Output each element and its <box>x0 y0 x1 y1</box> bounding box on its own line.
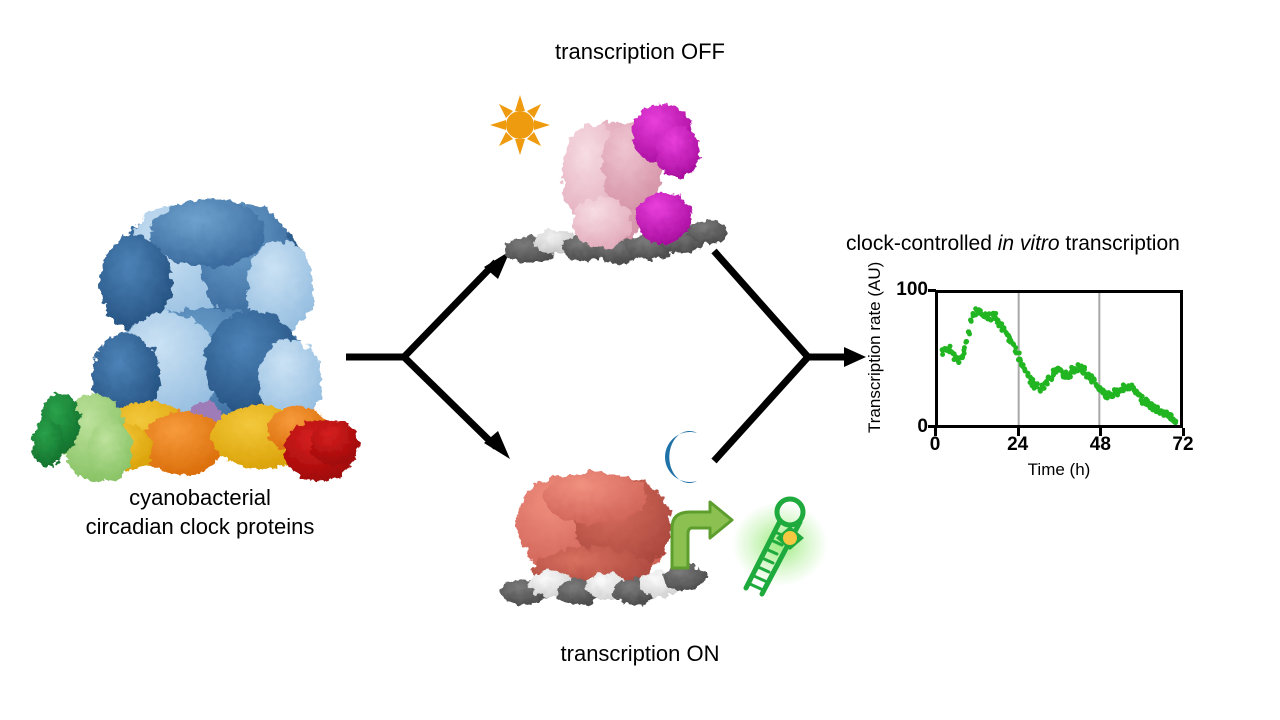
data-point <box>1006 333 1011 338</box>
data-point <box>962 351 967 356</box>
chart-title: clock-controlled in vitro transcription <box>846 232 1276 256</box>
y-tick-label-100: 100 <box>884 279 928 301</box>
data-point <box>1018 357 1023 362</box>
chart-y-axis-title: Transcription rate (AU) <box>865 263 885 433</box>
repressed-polymerase-dna-complex <box>490 90 750 280</box>
x-tick-mark-72 <box>1182 428 1185 436</box>
data-point <box>1090 377 1095 382</box>
data-point <box>968 318 973 323</box>
x-tick-label-0: 0 <box>915 434 955 456</box>
transcription-off-label: transcription OFF <box>0 38 1280 66</box>
chart-x-axis-title: Time (h) <box>935 460 1183 480</box>
data-point <box>1001 325 1006 330</box>
data-point <box>963 340 968 345</box>
transcription-on-label: transcription ON <box>0 640 1280 668</box>
x-tick-mark-24 <box>1017 428 1020 436</box>
data-point <box>962 345 967 350</box>
data-point <box>966 329 971 334</box>
data-point <box>1034 382 1039 387</box>
data-point <box>1110 394 1115 399</box>
data-point <box>1042 386 1047 391</box>
x-tick-label-48: 48 <box>1080 434 1120 456</box>
x-tick-label-72: 72 <box>1163 434 1203 456</box>
plot-area <box>938 293 1180 425</box>
data-point <box>1173 419 1178 424</box>
chart-title-prefix: clock-controlled <box>846 232 998 255</box>
transcription-rate-chart: Transcription rate (AU) 100 0 0244872 Ti… <box>846 268 1266 483</box>
plot-datapoints <box>940 306 1179 425</box>
chart-title-suffix: transcription <box>1060 232 1180 255</box>
data-point <box>948 344 953 349</box>
figure-root: transcription OFF transcription ON cyano… <box>0 0 1280 720</box>
x-tick-mark-48 <box>1099 428 1102 436</box>
plot-gridlines <box>1019 293 1100 425</box>
rna-aptamer-icon <box>728 488 838 608</box>
x-tick-mark-0 <box>934 428 937 436</box>
chart-title-italic: in vitro <box>998 232 1060 255</box>
x-tick-label-24: 24 <box>998 434 1038 456</box>
data-point <box>1168 412 1173 417</box>
plot-frame <box>935 290 1183 428</box>
caption-line-2: circadian clock proteins <box>20 513 380 542</box>
data-point <box>1058 367 1063 372</box>
data-point <box>1068 374 1073 379</box>
data-point <box>956 360 961 365</box>
data-point <box>1017 350 1022 355</box>
